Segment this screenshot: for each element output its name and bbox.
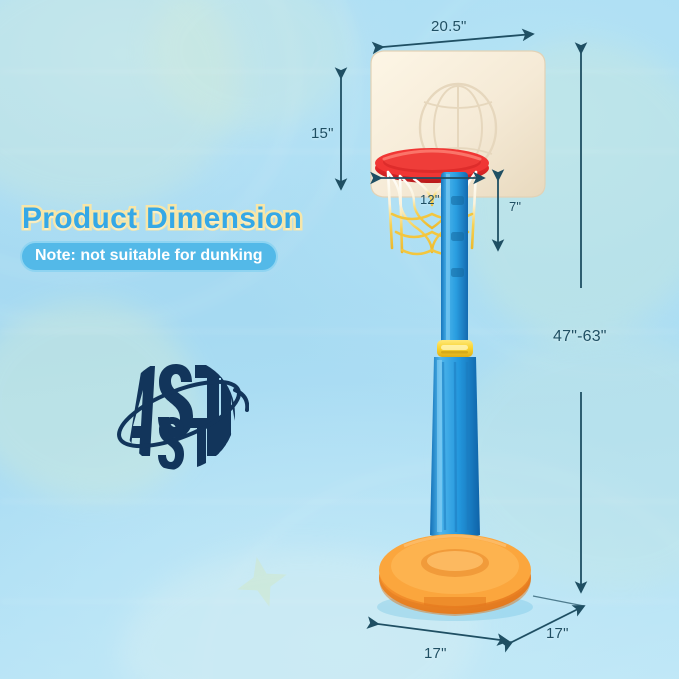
dimension-annotations: 20.5" 15" 12" 7" 47"-63" 17" 17" bbox=[0, 0, 679, 679]
dimension-label-rim-diameter: 12" bbox=[420, 192, 440, 207]
infographic-canvas: Product Dimension Note: not suitable for… bbox=[0, 0, 679, 679]
dimension-label-backboard-width: 20.5" bbox=[431, 18, 467, 35]
dimension-label-base-width-front: 17" bbox=[424, 645, 447, 662]
dimension-label-base-width-side: 17" bbox=[546, 625, 569, 642]
dimension-label-total-height: 47"-63" bbox=[553, 328, 607, 346]
dimension-label-backboard-height: 15" bbox=[311, 125, 334, 142]
dimension-label-net-depth: 7" bbox=[509, 199, 521, 214]
